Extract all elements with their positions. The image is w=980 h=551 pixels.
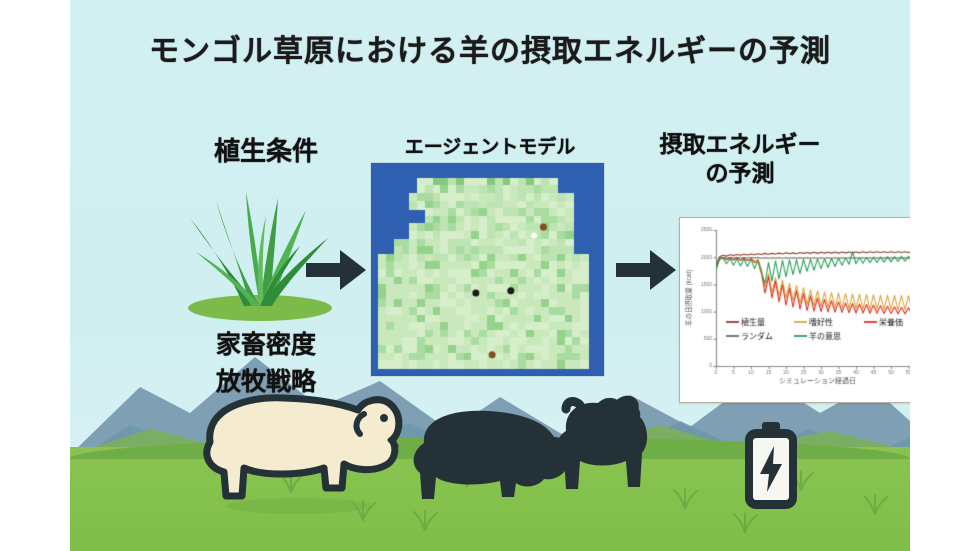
- label-energy-prediction: 摂取エネルギー の予測: [615, 130, 865, 188]
- label-livestock-density: 家畜密度: [166, 325, 366, 361]
- arrow-right-icon: [306, 248, 366, 292]
- grass-decoration: [860, 493, 890, 515]
- label-energy-line2: の予測: [706, 160, 775, 186]
- intake-energy-chart[interactable]: [679, 217, 910, 403]
- slide-scene: モンゴル草原における羊の摂取エネルギーの予測 植生条件 家畜密度 放牧戦略: [70, 0, 910, 551]
- right-margin: [910, 0, 980, 551]
- sheep-white-icon: [158, 384, 408, 519]
- label-agent-model: エージェントモデル: [370, 132, 610, 159]
- sheep-silhouette-standing-icon: [536, 391, 656, 509]
- slide-canvas: モンゴル草原における羊の摂取エネルギーの予測 植生条件 家畜密度 放牧戦略: [0, 0, 980, 551]
- grass-decoration: [410, 509, 440, 531]
- arrow-right-icon: [616, 248, 676, 292]
- label-energy-line1: 摂取エネルギー: [660, 131, 821, 157]
- label-vegetation-conditions: 植生条件: [166, 131, 366, 168]
- slide-title: モンゴル草原における羊の摂取エネルギーの予測: [70, 26, 910, 70]
- left-margin: [0, 0, 70, 551]
- grass-decoration: [730, 511, 760, 533]
- battery-charging-icon: [740, 420, 802, 512]
- agent-model-grid-map[interactable]: [371, 163, 604, 376]
- grass-decoration: [670, 487, 700, 509]
- label-grazing-strategy: 放牧戦略: [166, 362, 366, 398]
